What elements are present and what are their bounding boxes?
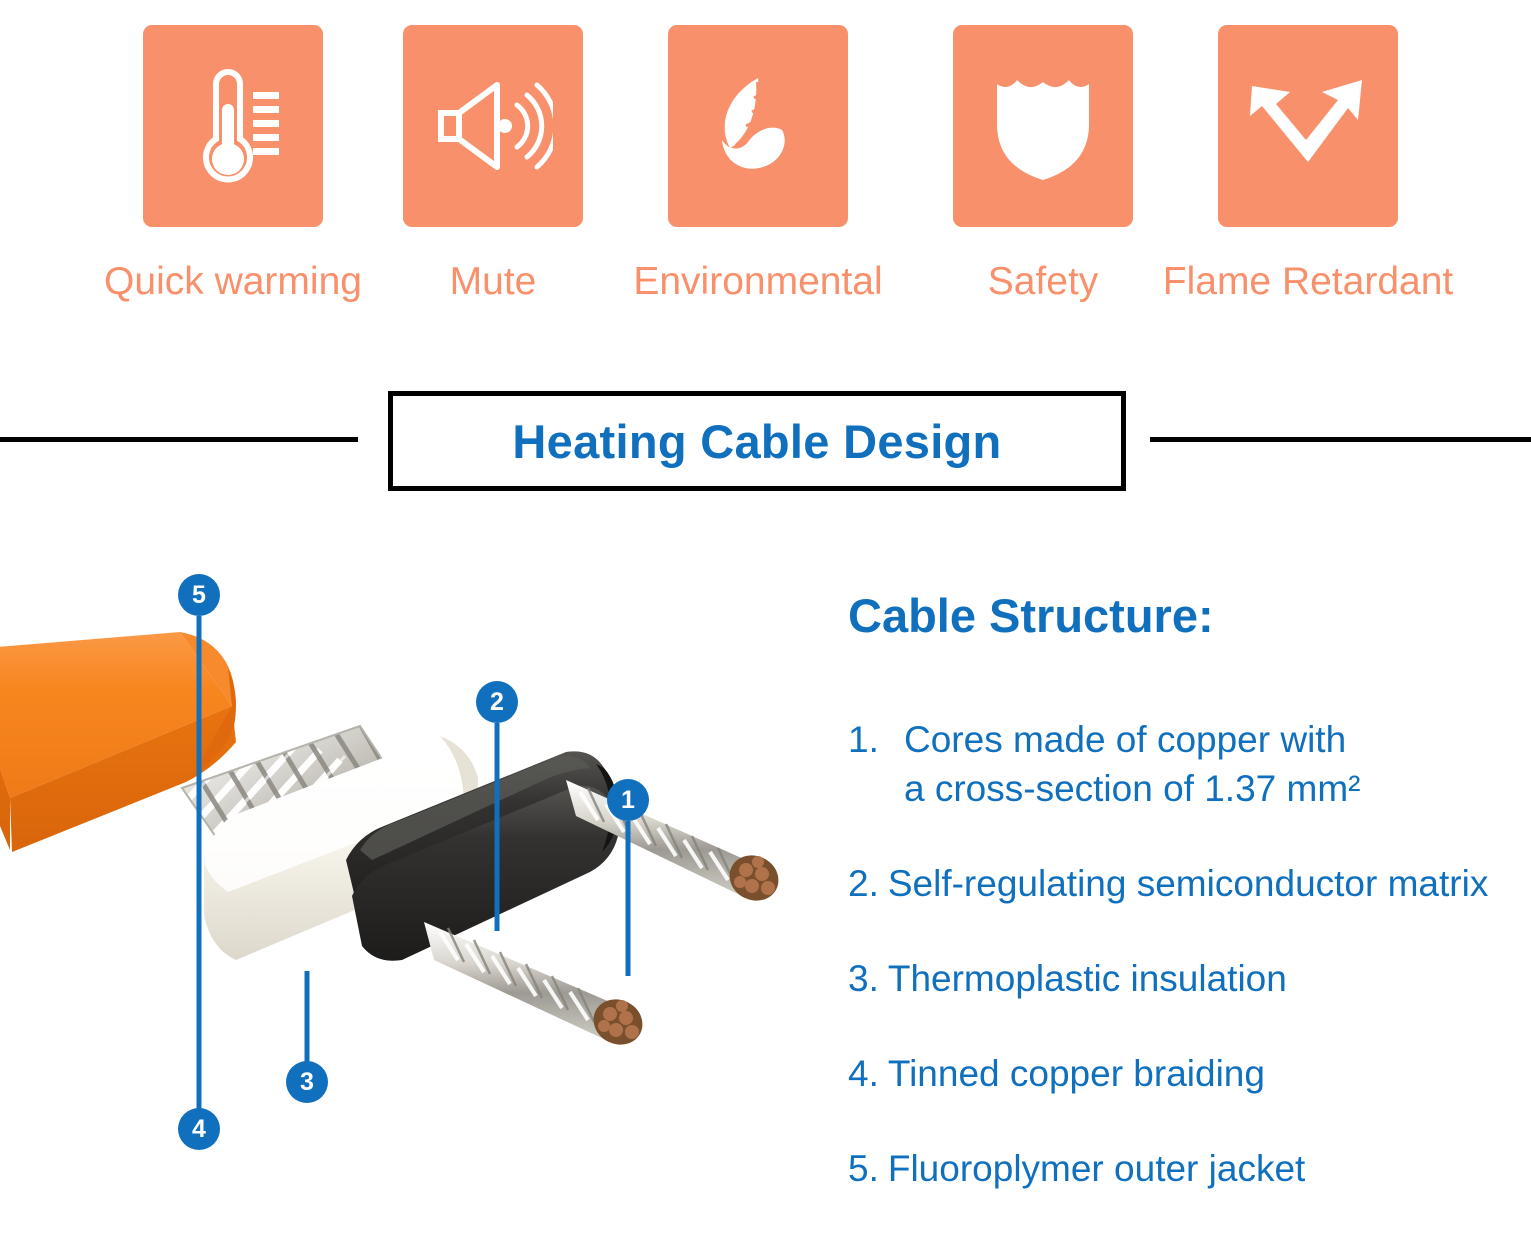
structure-item-number: 4. <box>848 1049 879 1098</box>
feature-tile <box>668 25 848 227</box>
structure-item-1: 1. Cores made of copper with a cross-sec… <box>848 715 1508 813</box>
feature-label: Flame Retardant <box>1163 259 1453 305</box>
feature-label: Safety <box>988 259 1099 305</box>
feature-flame-retardant: Flame Retardant <box>1218 25 1398 227</box>
infographic-root: Quick warming Mute <box>0 0 1531 1247</box>
callout-marker[interactable]: 4 <box>178 1108 220 1150</box>
callout-1[interactable]: 1 <box>607 779 649 979</box>
feature-tile <box>1218 25 1398 227</box>
structure-item-text: Fluoroplymer outer jacket <box>888 1144 1508 1193</box>
banner-rule-right <box>1150 437 1531 442</box>
lower-section: 5 2 1 3 4 Cable Structure: <box>0 530 1531 1247</box>
structure-item-2: 2. Self-regulating semiconductor matrix <box>848 859 1508 908</box>
structure-item-3: 3. Thermoplastic insulation <box>848 954 1508 1003</box>
banner-title-box: Heating Cable Design <box>388 391 1126 491</box>
cable-structure-panel: Cable Structure: 1. Cores made of copper… <box>848 588 1508 1239</box>
structure-item-line1: Cores made of copper with <box>904 719 1346 760</box>
feature-label: Environmental <box>633 259 882 305</box>
page-title: Heating Cable Design <box>512 414 1001 469</box>
structure-item-number: 1. <box>848 715 904 813</box>
thermometer-icon <box>177 66 289 186</box>
callout-line <box>626 821 631 976</box>
feature-label: Quick warming <box>104 259 362 305</box>
structure-item-4: 4. Tinned copper braiding <box>848 1049 1508 1098</box>
structure-item-text: Cores made of copper with a cross-sectio… <box>904 715 1508 813</box>
callout-3[interactable]: 3 <box>286 971 328 1123</box>
structure-item-number: 2. <box>848 859 879 908</box>
feature-tile <box>403 25 583 227</box>
section-banner: Heating Cable Design <box>0 391 1531 491</box>
structure-item-number: 5. <box>848 1144 879 1193</box>
banner-rule-left <box>0 437 358 442</box>
feature-strip: Quick warming Mute <box>0 0 1531 330</box>
callout-line <box>197 616 202 916</box>
callout-4[interactable]: 4 <box>178 910 220 1172</box>
callout-2[interactable]: 2 <box>476 681 518 931</box>
feature-quick-warming: Quick warming <box>143 25 323 227</box>
feature-label: Mute <box>450 259 537 305</box>
callout-5[interactable]: 5 <box>178 574 220 924</box>
structure-item-number: 3. <box>848 954 879 1003</box>
shield-icon <box>991 68 1095 184</box>
arrow-split-icon <box>1246 74 1370 178</box>
structure-heading: Cable Structure: <box>848 588 1508 643</box>
callout-line <box>197 910 202 1130</box>
callout-marker[interactable]: 3 <box>286 1061 328 1103</box>
structure-item-line2: a cross-section of 1.37 mm² <box>904 764 1508 813</box>
callout-marker[interactable]: 1 <box>607 779 649 821</box>
callout-marker[interactable]: 2 <box>476 681 518 723</box>
leaf-hand-icon <box>700 68 816 184</box>
structure-item-text: Self-regulating semiconductor matrix <box>888 859 1508 908</box>
cable-illustration: 5 2 1 3 4 <box>0 530 830 1247</box>
feature-tile <box>953 25 1133 227</box>
structure-item-text: Thermoplastic insulation <box>888 954 1508 1003</box>
feature-environmental: Environmental <box>668 25 848 227</box>
feature-mute: Mute <box>403 25 583 227</box>
structure-item-text: Tinned copper braiding <box>888 1049 1508 1098</box>
feature-safety: Safety <box>953 25 1133 227</box>
callout-marker[interactable]: 5 <box>178 574 220 616</box>
callout-line <box>495 723 500 931</box>
speaker-mute-icon <box>433 71 553 181</box>
structure-item-5: 5. Fluoroplymer outer jacket <box>848 1144 1508 1193</box>
feature-tile <box>143 25 323 227</box>
